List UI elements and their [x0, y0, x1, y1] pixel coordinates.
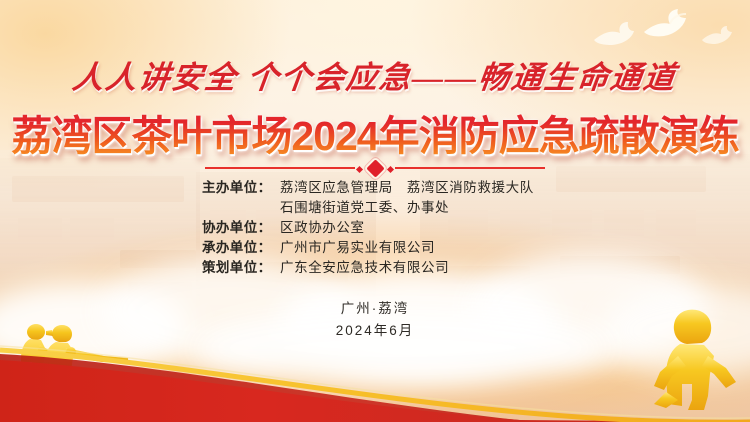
organizer-row: 协办单位： 区政协办公室: [0, 218, 750, 238]
page-title: 荔湾区茶叶市场2024年消防应急疏散演练: [0, 102, 750, 156]
poster-slogan: 人人讲安全 个个会应急——畅通生命通道: [0, 52, 750, 96]
organizer-row: 承办单位： 广州市广易实业有限公司: [0, 238, 750, 258]
organizer-label: 承办单位：: [202, 238, 280, 258]
divider-dot-icon: [356, 165, 363, 172]
organizer-value: 石围塘街道党工委、办事处: [280, 198, 548, 218]
decorative-divider: [0, 160, 750, 176]
poster-canvas: 人人讲安全 个个会应急——畅通生命通道 荔湾区茶叶市场2024年消防应急疏散演练…: [0, 0, 750, 422]
organizer-value: 荔湾区应急管理局 荔湾区消防救援大队: [280, 178, 548, 198]
organizer-row: 策划单位： 广东全安应急技术有限公司: [0, 258, 750, 278]
divider-dot-icon: [387, 165, 394, 172]
organizer-row: 石围塘街道党工委、办事处: [0, 198, 750, 218]
organizer-list: 主办单位： 荔湾区应急管理局 荔湾区消防救援大队 石围塘街道党工委、办事处 协办…: [0, 178, 750, 278]
organizer-row: 主办单位： 荔湾区应急管理局 荔湾区消防救援大队: [0, 178, 750, 198]
bottom-ribbon: [0, 302, 750, 422]
organizer-label: 协办单位：: [202, 218, 280, 238]
organizer-value: 广州市广易实业有限公司: [280, 238, 548, 258]
divider-diamond-icon: [366, 159, 384, 177]
organizer-value: 区政协办公室: [280, 218, 548, 238]
organizer-label: 主办单位：: [202, 178, 280, 198]
organizer-value: 广东全安应急技术有限公司: [280, 258, 548, 278]
organizer-label: [202, 198, 280, 218]
organizer-label: 策划单位：: [202, 258, 280, 278]
